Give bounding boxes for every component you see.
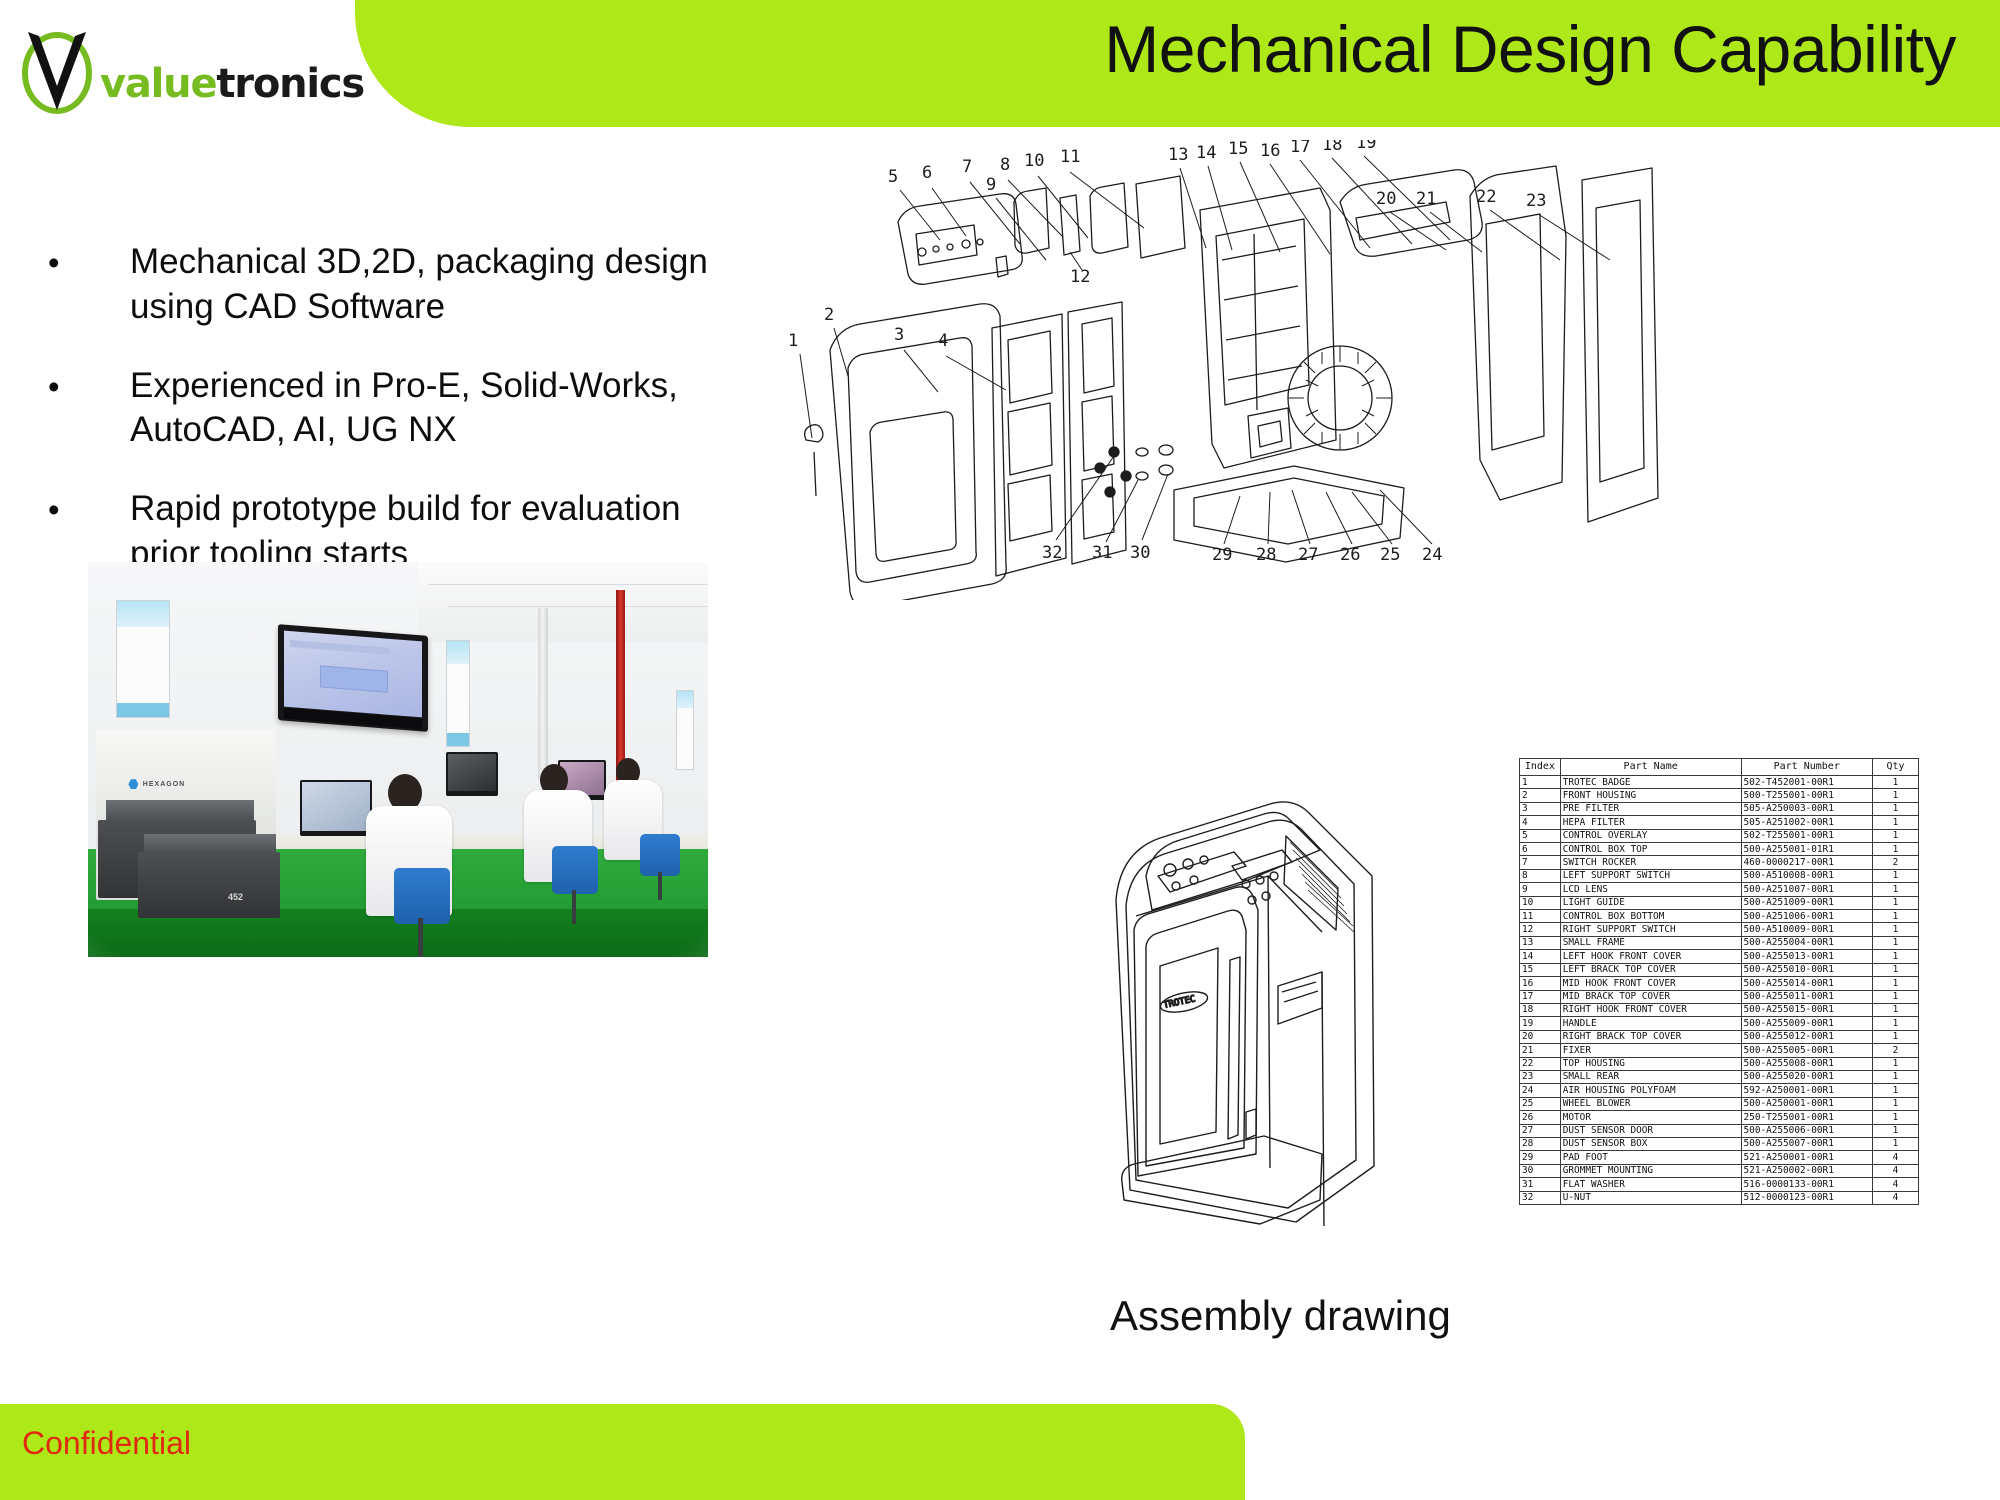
cell-part-name: CONTROL OVERLAY bbox=[1560, 829, 1741, 842]
cell-qty: 4 bbox=[1872, 1191, 1918, 1204]
table-row: 23SMALL REAR500-A255020-00R11 bbox=[1520, 1070, 1919, 1083]
cell-qty: 1 bbox=[1872, 1111, 1918, 1124]
table-row: 13SMALL FRAME500-A255004-00R11 bbox=[1520, 936, 1919, 949]
callout-14: 14 bbox=[1196, 143, 1216, 163]
callout-31: 31 bbox=[1092, 543, 1112, 563]
cell-index: 11 bbox=[1520, 910, 1561, 923]
callout-2: 2 bbox=[824, 305, 834, 325]
assembly-drawing-caption: Assembly drawing bbox=[1110, 1292, 1451, 1340]
callout-1: 1 bbox=[788, 331, 798, 351]
cell-index: 4 bbox=[1520, 816, 1561, 829]
table-row: 21FIXER500-A255005-00R12 bbox=[1520, 1044, 1919, 1057]
column-header-qty: Qty bbox=[1872, 759, 1918, 776]
list-item: • Mechanical 3D,2D, packaging design usi… bbox=[40, 240, 720, 330]
callout-12: 12 bbox=[1070, 267, 1090, 287]
cell-qty: 1 bbox=[1872, 977, 1918, 990]
table-row: 10LIGHT GUIDE500-A251009-00R11 bbox=[1520, 896, 1919, 909]
cell-part-number: 500-A510009-00R1 bbox=[1741, 923, 1872, 936]
cell-part-number: 500-A255001-01R1 bbox=[1741, 843, 1872, 856]
page-title: Mechanical Design Capability bbox=[1104, 16, 1956, 82]
table-row: 25WHEEL BLOWER500-A250001-00R11 bbox=[1520, 1097, 1919, 1110]
cell-qty: 1 bbox=[1872, 802, 1918, 815]
cell-part-number: 500-A255006-00R1 bbox=[1741, 1124, 1872, 1137]
cell-qty: 1 bbox=[1872, 1124, 1918, 1137]
table-row: 11CONTROL BOX BOTTOM500-A251006-00R11 bbox=[1520, 910, 1919, 923]
table-row: 15LEFT BRACK TOP COVER500-A255010-00R11 bbox=[1520, 963, 1919, 976]
callout-20: 20 bbox=[1376, 189, 1396, 209]
logo-word-secondary: tronics bbox=[216, 61, 364, 107]
cell-part-number: 500-A251009-00R1 bbox=[1741, 896, 1872, 909]
table-row: 8LEFT SUPPORT SWITCH500-A510008-00R11 bbox=[1520, 869, 1919, 882]
callout-32: 32 bbox=[1042, 543, 1062, 563]
bullet-text: Rapid prototype build for evaluation pri… bbox=[130, 489, 681, 573]
cell-index: 13 bbox=[1520, 936, 1561, 949]
cell-part-number: 500-A255015-00R1 bbox=[1741, 1003, 1872, 1016]
table-row: 22TOP HOUSING500-A255008-00R11 bbox=[1520, 1057, 1919, 1070]
table-row: 29PAD FOOT521-A250001-00R14 bbox=[1520, 1151, 1919, 1164]
cell-part-name: TOP HOUSING bbox=[1560, 1057, 1741, 1070]
cell-part-name: PRE FILTER bbox=[1560, 802, 1741, 815]
cell-part-number: 500-A510008-00R1 bbox=[1741, 869, 1872, 882]
cell-index: 21 bbox=[1520, 1044, 1561, 1057]
cell-qty: 1 bbox=[1872, 910, 1918, 923]
cell-part-name: DUST SENSOR DOOR bbox=[1560, 1124, 1741, 1137]
cell-qty: 1 bbox=[1872, 1030, 1918, 1043]
table-row: 19HANDLE500-A255009-00R11 bbox=[1520, 1017, 1919, 1030]
callout-16: 16 bbox=[1260, 141, 1280, 161]
logo-wordmark: valuetronics bbox=[100, 64, 364, 104]
cell-part-number: 521-A250002-00R1 bbox=[1741, 1164, 1872, 1177]
cell-qty: 1 bbox=[1872, 816, 1918, 829]
cell-index: 27 bbox=[1520, 1124, 1561, 1137]
table-header-row: Index Part Name Part Number Qty bbox=[1520, 759, 1919, 776]
table-row: 28DUST SENSOR BOX500-A255007-00R11 bbox=[1520, 1137, 1919, 1150]
cell-qty: 2 bbox=[1872, 856, 1918, 869]
cell-index: 3 bbox=[1520, 802, 1561, 815]
callout-22: 22 bbox=[1476, 187, 1496, 207]
parts-table-body: 1TROTEC BADGE502-T452001-00R112FRONT HOU… bbox=[1520, 776, 1919, 1205]
cell-part-name: LIGHT GUIDE bbox=[1560, 896, 1741, 909]
trotec-badge-label: TROTEC bbox=[1163, 994, 1197, 1011]
cell-part-number: 500-A255005-00R1 bbox=[1741, 1044, 1872, 1057]
logo-word-primary: value bbox=[100, 61, 216, 107]
cell-part-name: FIXER bbox=[1560, 1044, 1741, 1057]
cell-index: 23 bbox=[1520, 1070, 1561, 1083]
cell-part-name: HEPA FILTER bbox=[1560, 816, 1741, 829]
cell-index: 10 bbox=[1520, 896, 1561, 909]
cell-part-name: MID BRACK TOP COVER bbox=[1560, 990, 1741, 1003]
cell-qty: 1 bbox=[1872, 923, 1918, 936]
cell-part-number: 516-0000133-00R1 bbox=[1741, 1178, 1872, 1191]
cell-part-name: CONTROL BOX TOP bbox=[1560, 843, 1741, 856]
cell-qty: 1 bbox=[1872, 776, 1918, 789]
cell-part-name: FLAT WASHER bbox=[1560, 1178, 1741, 1191]
callout-23: 23 bbox=[1526, 191, 1546, 211]
callout-11: 11 bbox=[1060, 147, 1080, 167]
callout-29: 29 bbox=[1212, 545, 1232, 565]
cell-part-number: 460-0000217-00R1 bbox=[1741, 856, 1872, 869]
cell-index: 28 bbox=[1520, 1137, 1561, 1150]
table-row: 1TROTEC BADGE502-T452001-00R11 bbox=[1520, 776, 1919, 789]
table-row: 26MOTOR250-T255001-00R11 bbox=[1520, 1111, 1919, 1124]
callout-4: 4 bbox=[938, 331, 948, 351]
cell-index: 24 bbox=[1520, 1084, 1561, 1097]
bullet-text: Experienced in Pro-E, Solid-Works, AutoC… bbox=[130, 366, 678, 450]
table-row: 17MID BRACK TOP COVER500-A255011-00R11 bbox=[1520, 990, 1919, 1003]
cell-part-name: LEFT HOOK FRONT COVER bbox=[1560, 950, 1741, 963]
cell-part-name: FRONT HOUSING bbox=[1560, 789, 1741, 802]
callout-5: 5 bbox=[888, 167, 898, 187]
cell-qty: 1 bbox=[1872, 963, 1918, 976]
table-row: 20RIGHT BRACK TOP COVER500-A255012-00R11 bbox=[1520, 1030, 1919, 1043]
cell-part-number: 500-A251006-00R1 bbox=[1741, 910, 1872, 923]
confidential-label: Confidential bbox=[22, 1425, 191, 1462]
column-header-part-number: Part Number bbox=[1741, 759, 1872, 776]
cell-index: 25 bbox=[1520, 1097, 1561, 1110]
cell-part-name: MOTOR bbox=[1560, 1111, 1741, 1124]
callout-10: 10 bbox=[1024, 151, 1044, 171]
cell-index: 32 bbox=[1520, 1191, 1561, 1204]
table-row: 6CONTROL BOX TOP500-A255001-01R11 bbox=[1520, 843, 1919, 856]
cell-part-name: DUST SENSOR BOX bbox=[1560, 1137, 1741, 1150]
cell-qty: 1 bbox=[1872, 1017, 1918, 1030]
cell-index: 5 bbox=[1520, 829, 1561, 842]
callout-27: 27 bbox=[1298, 545, 1318, 565]
callout-7: 7 bbox=[962, 157, 972, 177]
table-row: 27DUST SENSOR DOOR500-A255006-00R11 bbox=[1520, 1124, 1919, 1137]
bullet-text: Mechanical 3D,2D, packaging design using… bbox=[130, 242, 708, 326]
callout-21: 21 bbox=[1416, 189, 1436, 209]
table-row: 9LCD LENS500-A251007-00R11 bbox=[1520, 883, 1919, 896]
callout-24: 24 bbox=[1422, 545, 1442, 565]
table-row: 2FRONT HOUSING500-T255001-00R11 bbox=[1520, 789, 1919, 802]
cell-part-number: 512-0000123-00R1 bbox=[1741, 1191, 1872, 1204]
cell-part-number: 500-A255008-00R1 bbox=[1741, 1057, 1872, 1070]
cell-index: 18 bbox=[1520, 1003, 1561, 1016]
cell-part-name: HANDLE bbox=[1560, 1017, 1741, 1030]
cell-part-number: 500-A255011-00R1 bbox=[1741, 990, 1872, 1003]
cell-part-number: 500-A255010-00R1 bbox=[1741, 963, 1872, 976]
table-row: 12RIGHT SUPPORT SWITCH500-A510009-00R11 bbox=[1520, 923, 1919, 936]
cell-index: 15 bbox=[1520, 963, 1561, 976]
cell-part-number: 505-A251002-00R1 bbox=[1741, 816, 1872, 829]
cell-index: 20 bbox=[1520, 1030, 1561, 1043]
cell-qty: 1 bbox=[1872, 990, 1918, 1003]
cell-part-name: MID HOOK FRONT COVER bbox=[1560, 977, 1741, 990]
column-header-part-name: Part Name bbox=[1560, 759, 1741, 776]
cell-qty: 1 bbox=[1872, 829, 1918, 842]
table-row: 16MID HOOK FRONT COVER500-A255014-00R11 bbox=[1520, 977, 1919, 990]
cell-part-number: 250-T255001-00R1 bbox=[1741, 1111, 1872, 1124]
cell-index: 30 bbox=[1520, 1164, 1561, 1177]
cell-part-name: PAD FOOT bbox=[1560, 1151, 1741, 1164]
cell-index: 14 bbox=[1520, 950, 1561, 963]
company-logo: valuetronics bbox=[18, 26, 348, 126]
cell-qty: 1 bbox=[1872, 789, 1918, 802]
cell-part-number: 500-A255009-00R1 bbox=[1741, 1017, 1872, 1030]
lab-photo: HEXAGON 452 bbox=[88, 562, 708, 957]
cell-part-name: SWITCH ROCKER bbox=[1560, 856, 1741, 869]
table-row: 14LEFT HOOK FRONT COVER500-A255013-00R11 bbox=[1520, 950, 1919, 963]
cell-index: 2 bbox=[1520, 789, 1561, 802]
table-row: 7SWITCH ROCKER460-0000217-00R12 bbox=[1520, 856, 1919, 869]
callout-25: 25 bbox=[1380, 545, 1400, 565]
cell-qty: 1 bbox=[1872, 936, 1918, 949]
cell-part-number: 500-A255014-00R1 bbox=[1741, 977, 1872, 990]
cell-index: 1 bbox=[1520, 776, 1561, 789]
cell-qty: 1 bbox=[1872, 869, 1918, 882]
cell-qty: 1 bbox=[1872, 1070, 1918, 1083]
cell-qty: 1 bbox=[1872, 883, 1918, 896]
callout-3: 3 bbox=[894, 325, 904, 345]
cell-part-number: 505-A250003-00R1 bbox=[1741, 802, 1872, 815]
cell-index: 7 bbox=[1520, 856, 1561, 869]
table-row: 31FLAT WASHER516-0000133-00R14 bbox=[1520, 1178, 1919, 1191]
table-row: 4HEPA FILTER505-A251002-00R11 bbox=[1520, 816, 1919, 829]
callout-30: 30 bbox=[1130, 543, 1150, 563]
cell-part-name: WHEEL BLOWER bbox=[1560, 1097, 1741, 1110]
table-row: 24AIR HOUSING POLYFOAM592-A250001-00R11 bbox=[1520, 1084, 1919, 1097]
cell-qty: 1 bbox=[1872, 843, 1918, 856]
column-header-index: Index bbox=[1520, 759, 1561, 776]
cell-index: 29 bbox=[1520, 1151, 1561, 1164]
cell-index: 9 bbox=[1520, 883, 1561, 896]
bullet-marker-icon: • bbox=[48, 242, 60, 284]
callout-15: 15 bbox=[1228, 140, 1248, 159]
callout-8: 8 bbox=[1000, 155, 1010, 175]
cell-index: 16 bbox=[1520, 977, 1561, 990]
cell-index: 12 bbox=[1520, 923, 1561, 936]
cell-part-name: U-NUT bbox=[1560, 1191, 1741, 1204]
cell-part-name: CONTROL BOX BOTTOM bbox=[1560, 910, 1741, 923]
assembly-drawing-figure: TROTEC bbox=[1080, 780, 1410, 1280]
table-row: 18RIGHT HOOK FRONT COVER500-A255015-00R1… bbox=[1520, 1003, 1919, 1016]
cell-qty: 1 bbox=[1872, 1097, 1918, 1110]
callout-19: 19 bbox=[1356, 140, 1376, 153]
table-row: 3PRE FILTER505-A250003-00R11 bbox=[1520, 802, 1919, 815]
callout-28: 28 bbox=[1256, 545, 1276, 565]
cell-index: 22 bbox=[1520, 1057, 1561, 1070]
list-item: • Experienced in Pro-E, Solid-Works, Aut… bbox=[40, 364, 720, 454]
cell-qty: 1 bbox=[1872, 1003, 1918, 1016]
cell-qty: 4 bbox=[1872, 1151, 1918, 1164]
cell-part-number: 500-A255007-00R1 bbox=[1741, 1137, 1872, 1150]
cell-qty: 1 bbox=[1872, 1084, 1918, 1097]
cell-qty: 1 bbox=[1872, 896, 1918, 909]
cell-part-name: TROTEC BADGE bbox=[1560, 776, 1741, 789]
cell-part-name: AIR HOUSING POLYFOAM bbox=[1560, 1084, 1741, 1097]
cell-index: 31 bbox=[1520, 1178, 1561, 1191]
callout-17: 17 bbox=[1290, 140, 1310, 157]
v-in-oval-logo-icon bbox=[18, 26, 96, 114]
capability-bullet-list: • Mechanical 3D,2D, packaging design usi… bbox=[40, 240, 720, 611]
cell-part-number: 500-A251007-00R1 bbox=[1741, 883, 1872, 896]
cell-part-number: 521-A250001-00R1 bbox=[1741, 1151, 1872, 1164]
cell-index: 6 bbox=[1520, 843, 1561, 856]
cell-index: 17 bbox=[1520, 990, 1561, 1003]
cell-part-name: GROMMET MOUNTING bbox=[1560, 1164, 1741, 1177]
cell-part-name: SMALL REAR bbox=[1560, 1070, 1741, 1083]
cell-part-name: RIGHT HOOK FRONT COVER bbox=[1560, 1003, 1741, 1016]
cell-part-number: 500-A255012-00R1 bbox=[1741, 1030, 1872, 1043]
cell-part-name: RIGHT SUPPORT SWITCH bbox=[1560, 923, 1741, 936]
cell-qty: 1 bbox=[1872, 950, 1918, 963]
cell-qty: 4 bbox=[1872, 1164, 1918, 1177]
cell-part-name: LEFT BRACK TOP COVER bbox=[1560, 963, 1741, 976]
parts-list-table: Index Part Name Part Number Qty 1TROTEC … bbox=[1519, 758, 1919, 1205]
cell-part-number: 500-A255004-00R1 bbox=[1741, 936, 1872, 949]
callout-13: 13 bbox=[1168, 145, 1188, 165]
exploded-assembly-drawing: 1 2 3 4 5 6 7 8 9 10 11 12 13 14 15 16 1… bbox=[770, 140, 2000, 600]
bullet-marker-icon: • bbox=[48, 489, 60, 531]
cell-part-number: 500-A255020-00R1 bbox=[1741, 1070, 1872, 1083]
cell-part-number: 502-T255001-00R1 bbox=[1741, 829, 1872, 842]
callout-18: 18 bbox=[1322, 140, 1342, 155]
cell-part-number: 500-A255013-00R1 bbox=[1741, 950, 1872, 963]
callout-6: 6 bbox=[922, 163, 932, 183]
cell-qty: 1 bbox=[1872, 1057, 1918, 1070]
cell-part-number: 500-A250001-00R1 bbox=[1741, 1097, 1872, 1110]
bullet-marker-icon: • bbox=[48, 366, 60, 408]
cell-part-name: SMALL FRAME bbox=[1560, 936, 1741, 949]
cell-part-number: 592-A250001-00R1 bbox=[1741, 1084, 1872, 1097]
cell-index: 8 bbox=[1520, 869, 1561, 882]
cell-qty: 2 bbox=[1872, 1044, 1918, 1057]
cell-part-name: RIGHT BRACK TOP COVER bbox=[1560, 1030, 1741, 1043]
callout-9: 9 bbox=[986, 175, 996, 195]
cell-qty: 1 bbox=[1872, 1137, 1918, 1150]
table-row: 32U-NUT512-0000123-00R14 bbox=[1520, 1191, 1919, 1204]
cell-index: 19 bbox=[1520, 1017, 1561, 1030]
cell-qty: 4 bbox=[1872, 1178, 1918, 1191]
table-row: 30GROMMET MOUNTING521-A250002-00R14 bbox=[1520, 1164, 1919, 1177]
cell-part-number: 502-T452001-00R1 bbox=[1741, 776, 1872, 789]
callout-26: 26 bbox=[1340, 545, 1360, 565]
photo-vignette bbox=[88, 562, 708, 957]
cell-index: 26 bbox=[1520, 1111, 1561, 1124]
cell-part-name: LEFT SUPPORT SWITCH bbox=[1560, 869, 1741, 882]
cell-part-name: LCD LENS bbox=[1560, 883, 1741, 896]
cell-part-number: 500-T255001-00R1 bbox=[1741, 789, 1872, 802]
table-row: 5CONTROL OVERLAY502-T255001-00R11 bbox=[1520, 829, 1919, 842]
